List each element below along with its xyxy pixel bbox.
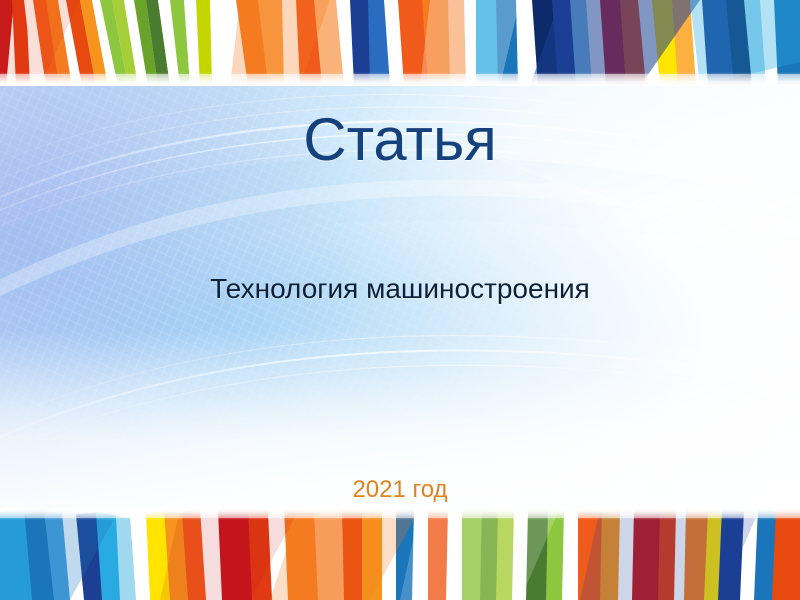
slide-year: 2021 год: [0, 476, 800, 505]
decoration-band-top: [0, 0, 800, 86]
presentation-slide: Статья Технология машиностроения 2021 го…: [0, 0, 800, 600]
slide-title: Статья: [0, 108, 800, 171]
slide-subtitle: Технология машиностроения: [0, 272, 800, 306]
decoration-band-bottom: [0, 508, 800, 600]
